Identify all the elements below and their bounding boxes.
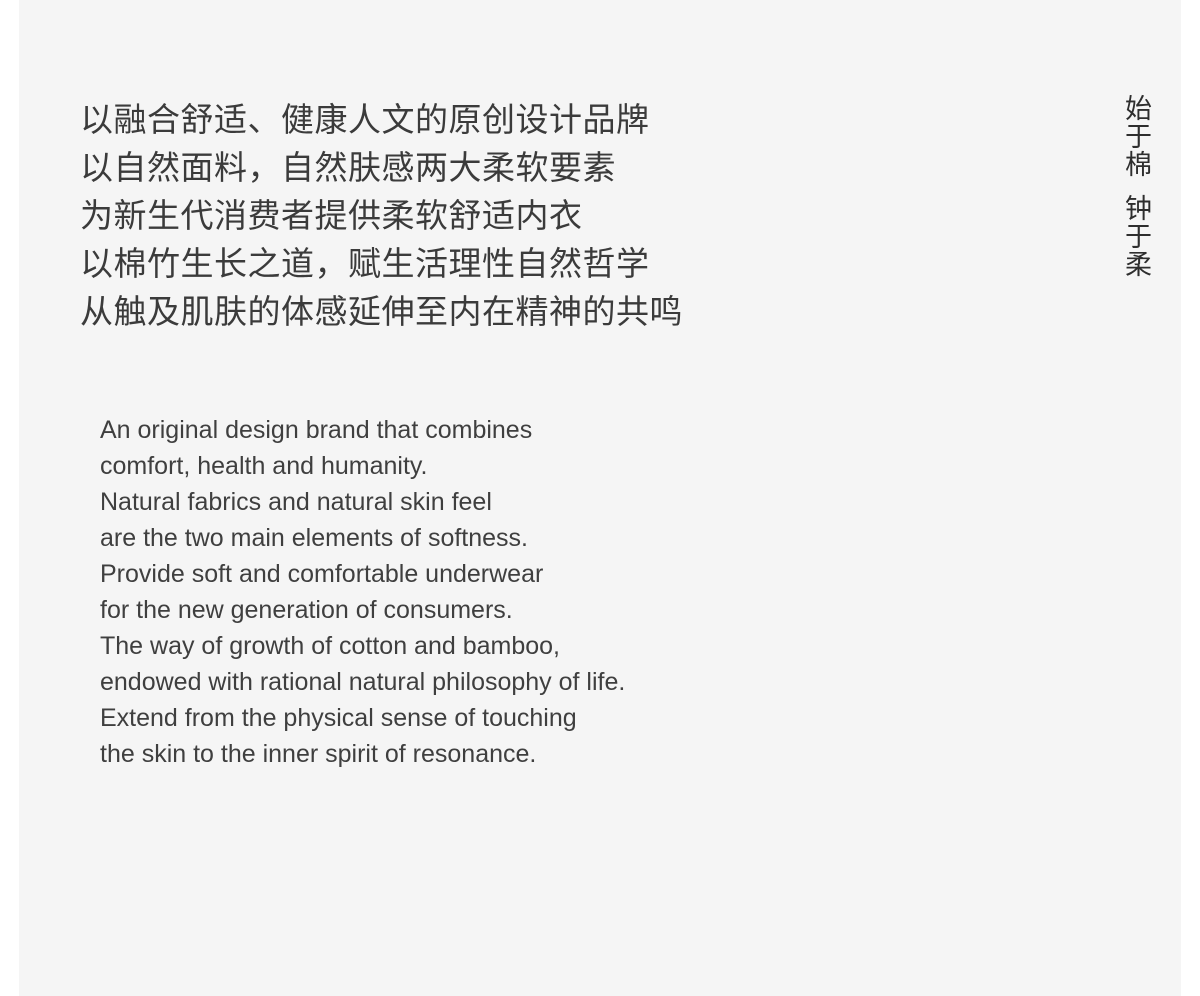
vertical-tagline-block: 始于棉 钟于柔 xyxy=(1117,94,1154,278)
chinese-headline-line: 以棉竹生长之道，赋生活理性自然哲学 xyxy=(80,240,840,288)
english-body-line: Extend from the physical sense of touchi… xyxy=(100,700,740,736)
chinese-headline-line: 以融合舒适、健康人文的原创设计品牌 xyxy=(80,96,840,144)
english-body-block: An original design brand that combines c… xyxy=(100,412,740,772)
vertical-tagline-column-2: 钟于柔 xyxy=(1117,194,1154,278)
english-body-line: Natural fabrics and natural skin feel xyxy=(100,484,740,520)
chinese-headline-line: 从触及肌肤的体感延伸至内在精神的共鸣 xyxy=(80,288,840,336)
english-body-line: comfort, health and humanity. xyxy=(100,448,740,484)
english-body-line: Provide soft and comfortable underwear xyxy=(100,556,740,592)
chinese-headline-line: 以自然面料，自然肤感两大柔软要素 xyxy=(80,144,840,192)
chinese-headline-block: 以融合舒适、健康人文的原创设计品牌 以自然面料，自然肤感两大柔软要素 为新生代消… xyxy=(80,96,840,336)
vertical-tagline-column-1: 始于棉 xyxy=(1117,94,1154,178)
content-panel: 以融合舒适、健康人文的原创设计品牌 以自然面料，自然肤感两大柔软要素 为新生代消… xyxy=(19,0,1181,996)
english-body-line: The way of growth of cotton and bamboo, xyxy=(100,628,740,664)
english-body-line: An original design brand that combines xyxy=(100,412,740,448)
english-body-line: endowed with rational natural philosophy… xyxy=(100,664,740,700)
english-body-line: the skin to the inner spirit of resonanc… xyxy=(100,736,740,772)
chinese-headline-line: 为新生代消费者提供柔软舒适内衣 xyxy=(80,192,840,240)
english-body-line: are the two main elements of softness. xyxy=(100,520,740,556)
english-body-line: for the new generation of consumers. xyxy=(100,592,740,628)
